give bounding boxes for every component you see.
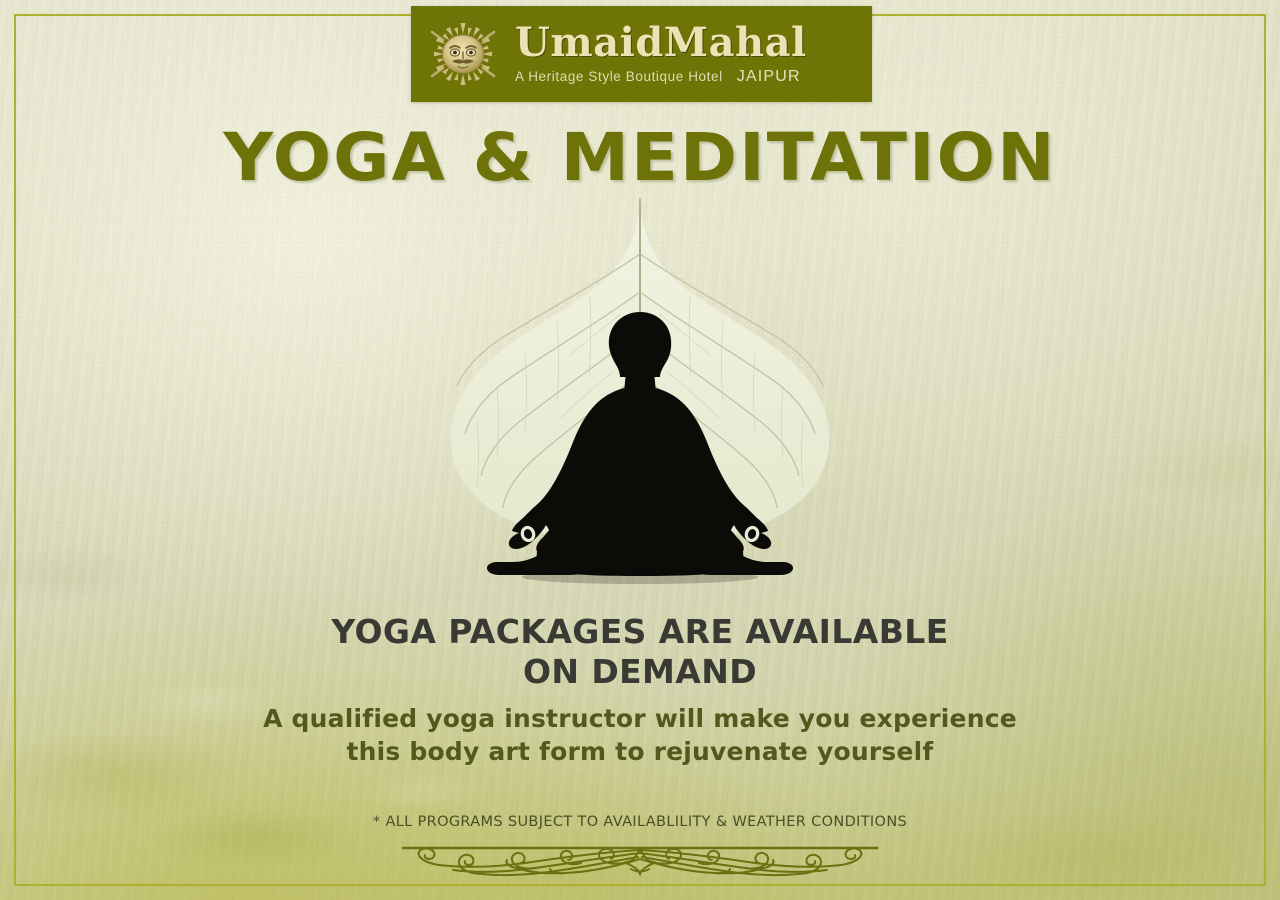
sun-face-icon (427, 20, 499, 88)
subhead: YOGA PACKAGES ARE AVAILABLE ON DEMAND (0, 612, 1280, 693)
poster-canvas: UmaidMahal A Heritage Style Boutique Hot… (0, 0, 1280, 900)
filigree-divider-graphic (395, 843, 885, 877)
poster-content: UmaidMahal A Heritage Style Boutique Hot… (0, 0, 1280, 900)
brand-logo-text: UmaidMahal A Heritage Style Boutique Hot… (515, 23, 872, 85)
brand-wordmark: UmaidMahal (515, 23, 858, 63)
subhead-line-2: ON DEMAND (0, 652, 1280, 692)
brand-city: JAIPUR (737, 69, 801, 85)
blurb-line-2: this body art form to rejuvenate yoursel… (0, 736, 1280, 769)
brand-tagline-row: A Heritage Style Boutique Hotel JAIPUR (515, 69, 858, 85)
figure-shadow (522, 570, 758, 584)
disclaimer-text: * ALL PROGRAMS SUBJECT TO AVAILABLILITY … (0, 814, 1280, 830)
sun-face-emblem-wrap (411, 20, 515, 88)
bodhi-leaf-and-lotus-figure (385, 196, 895, 596)
brand-tagline: A Heritage Style Boutique Hotel (515, 70, 723, 84)
filigree-divider (395, 843, 885, 877)
subhead-line-1: YOGA PACKAGES ARE AVAILABLE (0, 612, 1280, 652)
page-title: YOGA & MEDITATION (0, 125, 1280, 191)
yoga-leaf-artwork (385, 196, 895, 596)
brand-logo-band: UmaidMahal A Heritage Style Boutique Hot… (411, 6, 872, 102)
blurb-line-1: A qualified yoga instructor will make yo… (0, 703, 1280, 736)
blurb: A qualified yoga instructor will make yo… (0, 703, 1280, 768)
